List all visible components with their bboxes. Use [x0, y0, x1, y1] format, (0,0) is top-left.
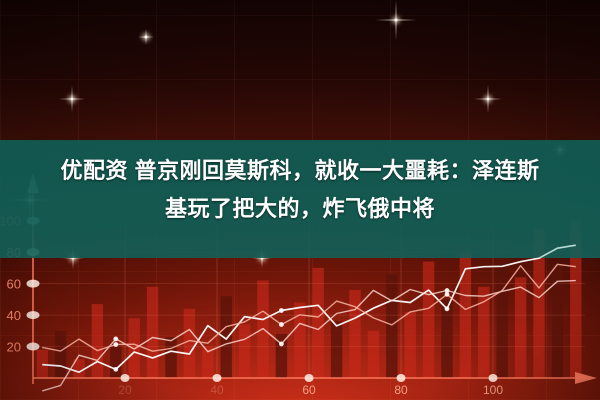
image-canvas: 2040608010020406080100 优配资 普京刚回莫斯科，就收一大噩…: [0, 0, 600, 400]
headline-line-1: 优配资 普京刚回莫斯科，就收一大噩耗：泽连斯: [0, 152, 600, 190]
headline-line-2: 基玩了把大的，炸飞俄中将: [0, 190, 600, 228]
headline-text: 优配资 普京刚回莫斯科，就收一大噩耗：泽连斯 基玩了把大的，炸飞俄中将: [0, 152, 600, 228]
